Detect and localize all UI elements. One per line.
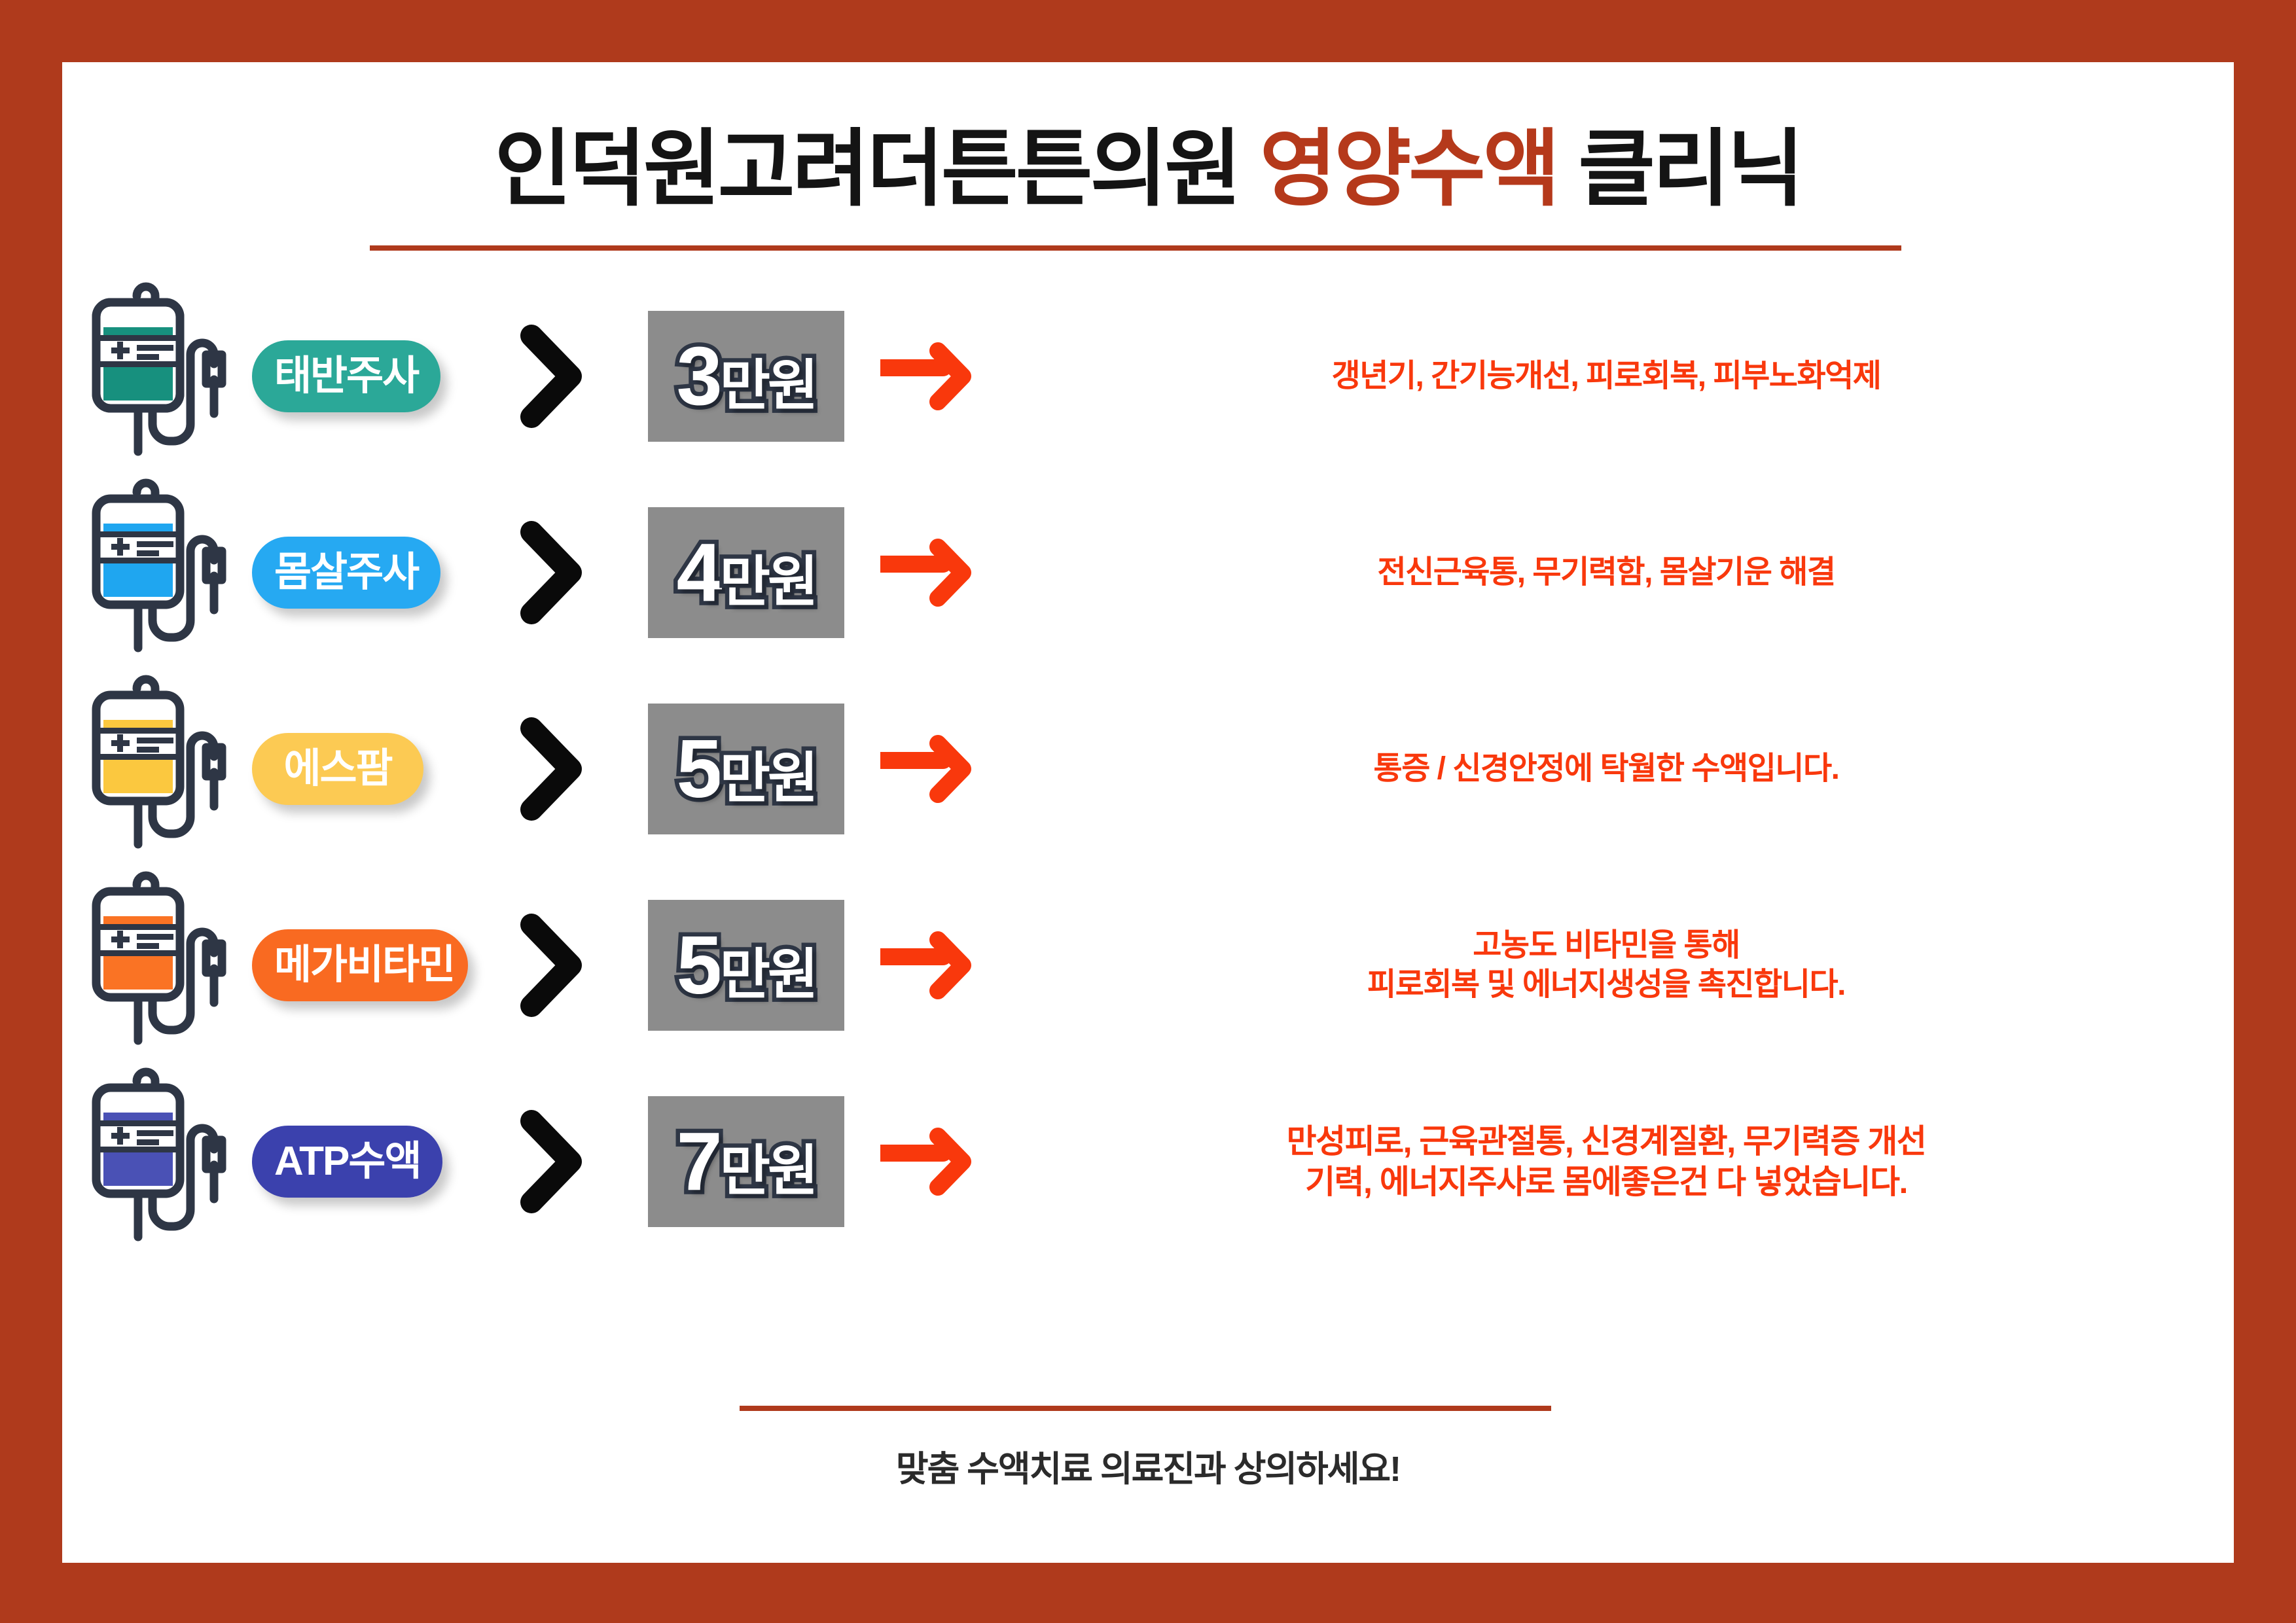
treatment-name-cell: 메가비타민: [252, 929, 468, 1001]
price-number: 4: [677, 526, 720, 618]
treatment-name-pill[interactable]: ATP수액: [252, 1126, 442, 1197]
price-cell: 5만원: [638, 704, 854, 834]
chevron-right-svg: [517, 1109, 589, 1214]
iv-bag-icon: [62, 478, 252, 668]
treatment-name-pill[interactable]: 태반주사: [252, 340, 440, 412]
chevron-right-svg: [517, 324, 589, 429]
price-cell: 4만원: [638, 507, 854, 638]
arrow-right-icon: [854, 733, 1005, 805]
price-text: 4만원: [677, 531, 816, 614]
iv-bag-icon: [62, 1067, 252, 1257]
price-number: 7: [677, 1115, 720, 1207]
iv-bag-icon: [62, 674, 252, 864]
description-cell: 통증 / 신경안정에 탁월한 수액입니다.: [1005, 749, 2234, 789]
price-unit: 만원: [720, 355, 816, 416]
iv-bag-icon: [62, 281, 252, 471]
chevron-right-icon: [468, 324, 638, 429]
arrow-right-icon: [854, 929, 1005, 1001]
treatment-list: 태반주사 3만원 갱년기,: [62, 278, 2234, 1260]
price-number: 5: [677, 722, 720, 815]
iv-bag-svg: [82, 674, 232, 864]
price-number: 3: [677, 330, 720, 422]
price-unit: 만원: [720, 747, 816, 809]
arrow-right-icon: [854, 340, 1005, 412]
treatment-row[interactable]: 태반주사 3만원 갱년기,: [62, 278, 2234, 474]
arrow-right-svg: [880, 1126, 978, 1198]
treatment-name-cell: ATP수액: [252, 1126, 468, 1197]
treatment-description: 갱년기, 간기능개선, 피로회복, 피부노화억제: [1332, 357, 1881, 396]
footer-note: 맞춤 수액치료 의료진과 상의하세요!: [62, 1440, 2234, 1491]
chevron-right-icon: [468, 913, 638, 1018]
price-text: 5만원: [677, 924, 816, 1007]
title-part-1: 인덕원고려더튼튼의원: [494, 122, 1259, 216]
treatment-name-pill[interactable]: 메가비타민: [252, 929, 468, 1001]
chevron-right-icon: [468, 1109, 638, 1214]
divider-top: [370, 245, 1901, 251]
poster-canvas: 인덕원고려더튼튼의원 영양수액 클리닉: [62, 62, 2234, 1563]
title-accent: 영양수액: [1260, 122, 1558, 216]
price-number: 5: [677, 919, 720, 1011]
price-cell: 5만원: [638, 900, 854, 1031]
price-unit: 만원: [720, 551, 816, 613]
chevron-right-svg: [517, 520, 589, 625]
arrow-right-icon: [854, 537, 1005, 609]
divider-bottom: [740, 1406, 1551, 1411]
chevron-right-svg: [517, 717, 589, 821]
treatment-row[interactable]: ATP수액 7만원 만성피로: [62, 1063, 2234, 1260]
treatment-row[interactable]: 메가비타민 5만원 고농도: [62, 867, 2234, 1063]
arrow-right-svg: [880, 537, 978, 609]
price-cell: 7만원: [638, 1096, 854, 1227]
price-text: 5만원: [677, 728, 816, 810]
price-unit: 만원: [720, 944, 816, 1005]
treatment-name-cell: 몸살주사: [252, 537, 468, 608]
arrow-right-svg: [880, 733, 978, 805]
chevron-right-svg: [517, 913, 589, 1018]
price-unit: 만원: [720, 1140, 816, 1202]
treatment-name-cell: 태반주사: [252, 340, 468, 412]
chevron-right-icon: [468, 717, 638, 821]
description-cell: 만성피로, 근육관절통, 신경계질환, 무기력증 개선 기력, 에너지주사로 몸…: [1005, 1121, 2234, 1203]
price-box: 5만원: [648, 900, 844, 1031]
iv-bag-svg: [82, 1067, 232, 1257]
description-cell: 전신근육통, 무기력함, 몸살기운 해결: [1005, 553, 2234, 592]
title-part-2: 클리닉: [1558, 122, 1802, 216]
treatment-name-pill[interactable]: 에스팜: [252, 733, 423, 804]
iv-bag-svg: [82, 478, 232, 668]
iv-bag-svg: [82, 281, 232, 471]
arrow-right-svg: [880, 340, 978, 412]
price-box: 3만원: [648, 311, 844, 442]
description-cell: 갱년기, 간기능개선, 피로회복, 피부노화억제: [1005, 357, 2234, 396]
description-cell: 고농도 비타민을 통해 피로회복 및 에너지생성을 촉진합니다.: [1005, 926, 2234, 1005]
treatment-description: 통증 / 신경안정에 탁월한 수액입니다.: [1374, 749, 1839, 789]
price-box: 4만원: [648, 507, 844, 638]
price-text: 7만원: [677, 1120, 816, 1203]
arrow-right-svg: [880, 929, 978, 1001]
treatment-name-cell: 에스팜: [252, 733, 468, 804]
price-box: 5만원: [648, 704, 844, 834]
iv-bag-icon: [62, 870, 252, 1060]
treatment-description: 전신근육통, 무기력함, 몸살기운 해결: [1377, 553, 1835, 592]
treatment-description: 고농도 비타민을 통해 피로회복 및 에너지생성을 촉진합니다.: [1367, 926, 1845, 1005]
poster-frame: 인덕원고려더튼튼의원 영양수액 클리닉: [0, 0, 2296, 1623]
arrow-right-icon: [854, 1126, 1005, 1198]
treatment-row[interactable]: 에스팜 5만원 통증 / 신: [62, 671, 2234, 867]
price-box: 7만원: [648, 1096, 844, 1227]
iv-bag-svg: [82, 870, 232, 1060]
chevron-right-icon: [468, 520, 638, 625]
price-cell: 3만원: [638, 311, 854, 442]
treatment-row[interactable]: 몸살주사 4만원 전신근육통: [62, 474, 2234, 671]
treatment-name-pill[interactable]: 몸살주사: [252, 537, 440, 608]
page-title: 인덕원고려더튼튼의원 영양수액 클리닉: [62, 128, 2234, 211]
price-text: 3만원: [677, 335, 816, 418]
treatment-description: 만성피로, 근육관절통, 신경계질환, 무기력증 개선 기력, 에너지주사로 몸…: [1287, 1121, 1926, 1203]
